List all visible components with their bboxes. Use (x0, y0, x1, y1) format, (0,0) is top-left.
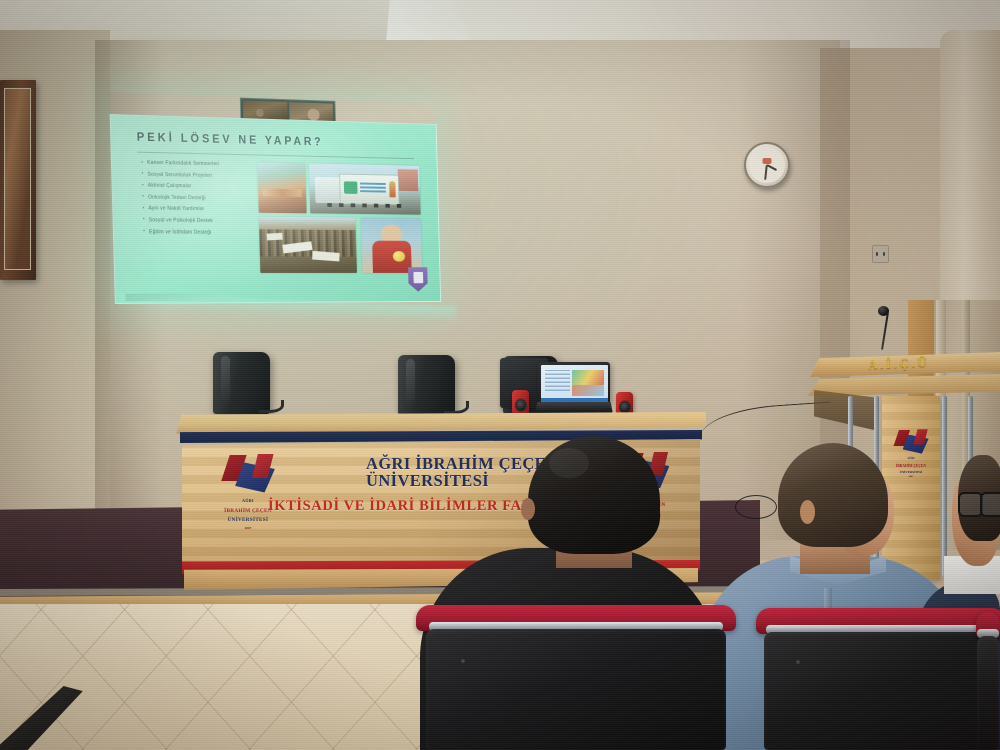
truck-logo (344, 181, 357, 193)
slide-photo-child (361, 218, 422, 273)
clock-minute-hand (765, 165, 768, 180)
eyeglasses-icon (958, 492, 1000, 514)
chair-highlight (221, 356, 230, 406)
slide-title-underline (137, 152, 414, 159)
glasses-lens (980, 492, 1000, 517)
person-1-ear (521, 498, 535, 520)
truck-trailer (340, 174, 400, 205)
seat-back-panel (764, 632, 999, 750)
slide-photo-bazaar (257, 162, 306, 213)
clock-brand-mark (763, 158, 772, 164)
logo-line-4: 2007 (890, 475, 932, 478)
slide-photo-crowd (259, 217, 357, 273)
participant-head (308, 108, 320, 120)
laptop-slide-image (572, 370, 604, 385)
slide-bullet: Aktivist Çalışmalar (142, 183, 256, 191)
logo-line-2: İBRAHİM ÇEÇEN (890, 464, 932, 468)
seat-screw (796, 660, 800, 664)
person-2-ear (800, 500, 815, 524)
slide-photo-grid (257, 162, 422, 273)
truck-cab (315, 176, 340, 202)
auditorium-seat (756, 608, 1000, 750)
projection-screen: participant-1 participant-2 PEKİ LÖSEV N… (109, 92, 439, 307)
wall-column (940, 30, 1000, 330)
logo-line-3: ÜNİVERSİTESİ (890, 470, 932, 474)
seat-screw (461, 659, 465, 663)
laptop-taskbar[interactable] (541, 398, 608, 401)
laptop-slide-text (545, 370, 570, 391)
slide-photo-truck (309, 163, 421, 214)
crowd-banner (312, 251, 339, 261)
power-outlet-icon (872, 245, 889, 263)
office-chair (398, 355, 455, 415)
slide-bullet: Onkolojik Tedavi Desteği (142, 194, 256, 202)
chair-highlight (406, 359, 415, 407)
wall-clock (744, 142, 790, 188)
laptop-slide-image (572, 385, 604, 396)
lectern-shelf (808, 374, 1000, 396)
framed-picture (0, 80, 36, 280)
auditorium-seat (976, 612, 1000, 750)
truck-figure (389, 181, 396, 198)
losev-logo-icon (408, 267, 428, 291)
slide-bullet: Sosyal ve Psikolojik Destek (143, 217, 257, 224)
logo-mark (890, 428, 932, 458)
slide-title: PEKİ LÖSEV NE YAPAR? (137, 132, 324, 149)
child-shirt (372, 241, 411, 273)
logo-line-1: AĞRI (890, 457, 932, 460)
clock-face (749, 147, 785, 183)
seat-back-panel (977, 636, 1000, 750)
crowd-banner (267, 233, 283, 240)
auditorium-seat (416, 605, 736, 750)
person-2-head (778, 443, 888, 547)
slide-bullet: Ayni ve Nakdi Yardımlar (143, 206, 257, 213)
office-chair (213, 352, 270, 414)
clock-hour-hand (767, 164, 778, 171)
lectern-column (882, 396, 940, 580)
laptop-screen[interactable] (541, 365, 608, 402)
truck-wheels (320, 203, 402, 208)
lectern-leg (942, 396, 947, 576)
conference-hall-photo: participant-1 participant-2 PEKİ LÖSEV N… (0, 0, 1000, 750)
slide-bullet-list: Kanser Farkındalık Seminerleri Sosyal So… (141, 160, 257, 241)
truck-background-building (398, 169, 418, 191)
slide-bullet: Eğitim ve İstihdam Desteği (143, 229, 257, 236)
participant-head (256, 109, 263, 117)
person-1-head (528, 436, 660, 554)
seat-back-panel (426, 629, 727, 750)
slide-bullet: Sosyal Sorumluluk Projeleri (142, 171, 256, 179)
coiled-floor-cable (735, 495, 777, 519)
presentation-slide: PEKİ LÖSEV NE YAPAR? Kanser Farkındalık … (110, 114, 441, 304)
laptop-lid (538, 362, 610, 404)
lectern-underside-shadow (814, 390, 874, 430)
university-logo-lectern: AĞRI İBRAHİM ÇEÇEN ÜNİVERSİTESİ 2007 (890, 428, 932, 476)
slide-bullet: Kanser Farkındalık Seminerleri (141, 160, 255, 168)
truck-slogan (360, 183, 385, 193)
